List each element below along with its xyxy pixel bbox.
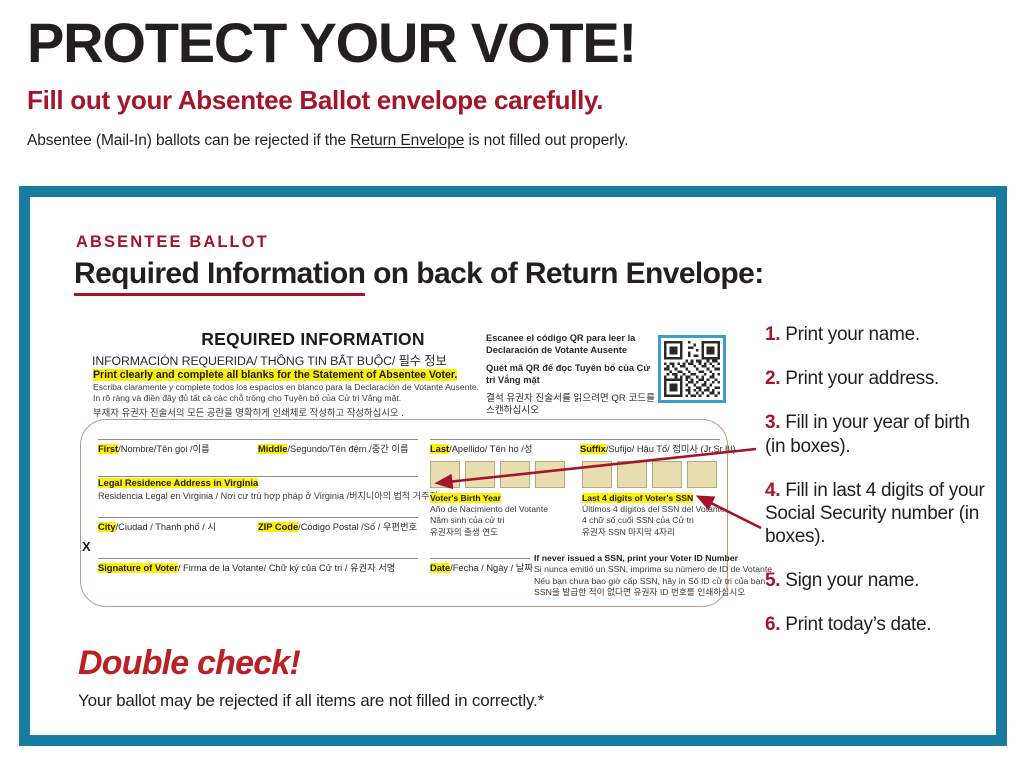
field-signature-label-multilang: / Firma de la Votante/ Chữ ký của Cử tri… <box>178 563 395 573</box>
return-envelope-link[interactable]: Return Envelope <box>350 132 464 149</box>
qr-code-icon <box>664 341 720 397</box>
step-number-1: 1. <box>765 324 780 345</box>
instruction-card: ABSENTEE BALLOT Required Information on … <box>30 197 996 735</box>
required-information-subtitle: INFORMACIÓN REQUERIDA/ THÔNG TIN BẮT BUỘ… <box>92 351 482 369</box>
birth-year-label-en: Voter's Birth Year <box>430 493 501 503</box>
ssn-note-ko: SSN을 발급한 적이 없다면 유권자 ID 번호를 인쇄하십시오 <box>534 587 745 597</box>
step-number-5: 5. <box>765 570 780 591</box>
field-middle-name-label-multilang: /Segundo/Tên đệm /중간 이름 <box>287 444 408 454</box>
ssn-boxes[interactable] <box>582 461 717 488</box>
step-text-5: Sign your name. <box>785 570 919 591</box>
step-item-2: 2. Print your address. <box>765 367 993 390</box>
field-first-name[interactable]: First/Nombre/Tên gọi /이름 <box>98 439 258 455</box>
birth-year-label-ko: 유권자의 출생 연도 <box>430 527 498 537</box>
field-suffix-label: Suffix/Sufijo/ Hậu Tố/ 접미사 (Jr,Sr,III) <box>580 440 720 455</box>
birth-year-caption: Voter's Birth Year Año de Nacimiento del… <box>430 493 548 538</box>
ssn-box[interactable] <box>687 461 717 488</box>
ssn-note-en: If never issued a SSN, print your Voter … <box>534 553 738 563</box>
poster-header: PROTECT YOUR VOTE! Fill out your Absente… <box>27 14 987 150</box>
field-last-name[interactable]: Last/Apellido/ Tên họ /성 <box>430 439 580 455</box>
double-check-note: Your ballot may be rejected if all items… <box>78 691 544 711</box>
qr-instruction-ko: 결석 유권자 진술서를 읽으려면 QR 코드를 스캔하십시오 <box>486 393 661 417</box>
field-last-name-label-en: Last <box>430 444 449 454</box>
instruction-vi: In rõ ràng và điền đầy đủ tất cả các chỗ… <box>93 393 401 403</box>
field-date[interactable]: Date/Fecha / Ngày / 날짜 <box>430 558 530 574</box>
instruction-en: Print clearly and complete all blanks fo… <box>93 369 457 381</box>
field-zip-code[interactable]: ZIP Code/Código Postal /Số / 우편번호 <box>258 517 418 533</box>
ssn-label-ko: 유권자 SSN 마지막 4자리 <box>582 527 675 537</box>
field-middle-name[interactable]: Middle/Segundo/Tên đệm /중간 이름 <box>258 439 418 455</box>
field-middle-name-label: Middle/Segundo/Tên đệm /중간 이름 <box>258 440 418 455</box>
step-text-2: Print your address. <box>785 368 939 389</box>
field-date-label: Date/Fecha / Ngày / 날짜 <box>430 559 530 574</box>
card-title: Required Information on back of Return E… <box>74 257 764 291</box>
field-last-name-label: Last/Apellido/ Tên họ /성 <box>430 440 580 455</box>
rejection-note: Absentee (Mail-In) ballots can be reject… <box>27 132 987 150</box>
ssn-box[interactable] <box>617 461 647 488</box>
step-number-2: 2. <box>765 368 780 389</box>
field-middle-name-label-en: Middle <box>258 444 287 454</box>
signature-x-mark: X <box>82 539 91 554</box>
envelope-scan: REQUIRED INFORMATION INFORMACIÓN REQUERI… <box>68 321 748 621</box>
field-suffix[interactable]: Suffix/Sufijo/ Hậu Tố/ 접미사 (Jr,Sr,III) <box>580 439 720 455</box>
field-city-label-en: City <box>98 522 116 532</box>
field-suffix-label-en: Suffix <box>580 444 606 454</box>
field-city-label: City/Ciudad / Thanh phố / 시 <box>98 518 258 533</box>
field-signature-label: Signature of Voter/ Firma de la Votante/… <box>98 559 418 574</box>
field-signature-label-en: Signature of Voter <box>98 563 178 573</box>
ssn-box[interactable] <box>582 461 612 488</box>
field-signature[interactable]: Signature of Voter/ Firma de la Votante/… <box>98 558 418 574</box>
field-legal-residence-address[interactable]: Legal Residence Address in Virginia Resi… <box>98 476 418 502</box>
required-information-title: REQUIRED INFORMATION <box>148 329 478 350</box>
poster-root: PROTECT YOUR VOTE! Fill out your Absente… <box>0 0 1024 773</box>
card-title-emphasis: Required Information <box>74 257 365 296</box>
birth-year-box[interactable] <box>430 461 460 488</box>
ssn-label-en: Last 4 digits of Voter's SSN <box>582 493 693 503</box>
ssn-caption: Last 4 digits of Voter's SSN Últimos 4 d… <box>582 493 725 538</box>
field-last-name-label-multilang: /Apellido/ Tên họ /성 <box>449 444 532 454</box>
ssn-label-es: Últimos 4 dígitos del SSN del Votante <box>582 504 725 514</box>
field-address-label-en: Legal Residence Address in Virginia <box>98 478 258 488</box>
field-city[interactable]: City/Ciudad / Thanh phố / 시 <box>98 517 258 533</box>
page-subtitle: Fill out your Absentee Ballot envelope c… <box>27 85 987 116</box>
double-check-heading: Double check! <box>78 644 300 683</box>
birth-year-box[interactable] <box>535 461 565 488</box>
instruction-es: Escriba claramente y complete todos los … <box>93 382 479 392</box>
steps-list: 1. Print your name. 2. Print your addres… <box>765 323 993 658</box>
qr-code[interactable] <box>658 335 726 403</box>
field-city-label-multilang: /Ciudad / Thanh phố / 시 <box>116 522 216 532</box>
field-address-label: Legal Residence Address in Virginia <box>98 477 418 488</box>
field-first-name-label-multilang: /Nombre/Tên gọi /이름 <box>118 444 210 454</box>
step-item-6: 6. Print today’s date. <box>765 613 993 636</box>
step-number-3: 3. <box>765 412 780 433</box>
birth-year-box[interactable] <box>465 461 495 488</box>
field-address-label-multilang: Residencia Legal en Virginia / Nơi cư tr… <box>98 488 418 502</box>
step-item-1: 1. Print your name. <box>765 323 993 346</box>
ssn-note-vi: Nếu bạn chưa bao giờ cấp SSN, hãy in Số … <box>534 576 765 586</box>
page-title: PROTECT YOUR VOTE! <box>27 14 987 71</box>
ssn-box[interactable] <box>652 461 682 488</box>
field-zip-label-en: ZIP Code <box>258 522 298 532</box>
instruction-ko: 부재자 유권자 진술서의 모든 공란을 명확하게 인쇄체로 작성하고 작성하십시… <box>93 405 404 419</box>
qr-instructions: Escanee el código QR para leer la Declar… <box>486 333 661 424</box>
birth-year-boxes[interactable] <box>430 461 565 488</box>
step-text-1: Print your name. <box>785 324 920 345</box>
instruction-card-frame: ABSENTEE BALLOT Required Information on … <box>19 186 1007 746</box>
field-suffix-label-multilang: /Sufijo/ Hậu Tố/ 접미사 (Jr,Sr,III) <box>606 444 736 454</box>
step-text-3: Fill in your year of birth (in boxes). <box>765 412 970 456</box>
step-text-6: Print today’s date. <box>785 614 931 635</box>
birth-year-label-es: Año de Nacimiento del Votante <box>430 504 548 514</box>
ssn-fallback-note: If never issued a SSN, print your Voter … <box>534 553 772 599</box>
step-item-3: 3. Fill in your year of birth (in boxes)… <box>765 411 993 457</box>
card-title-rest: on back of Return Envelope: <box>365 257 763 290</box>
field-date-label-multilang: /Fecha / Ngày / 날짜 <box>450 563 533 573</box>
step-text-4: Fill in last 4 digits of your Social Sec… <box>765 480 985 547</box>
step-item-4: 4. Fill in last 4 digits of your Social … <box>765 479 993 549</box>
rejection-note-after: is not filled out properly. <box>464 132 628 149</box>
qr-instruction-es: Escanee el código QR para leer la Declar… <box>486 333 661 356</box>
step-item-5: 5. Sign your name. <box>765 569 993 592</box>
step-number-6: 6. <box>765 614 780 635</box>
birth-year-label-vi: Năm sinh của cử tri <box>430 515 505 525</box>
field-zip-label: ZIP Code/Código Postal /Số / 우편번호 <box>258 518 418 533</box>
field-first-name-label: First/Nombre/Tên gọi /이름 <box>98 440 258 455</box>
rejection-note-before: Absentee (Mail-In) ballots can be reject… <box>27 132 350 149</box>
step-number-4: 4. <box>765 480 780 501</box>
qr-instruction-vi: Quét mã QR để đọc Tuyên bố của Cử tri Vắ… <box>486 363 661 386</box>
field-date-label-en: Date <box>430 563 450 573</box>
card-kicker: ABSENTEE BALLOT <box>76 233 269 252</box>
ssn-label-vi: 4 chữ số cuối SSN của Cử tri <box>582 515 694 525</box>
birth-year-box[interactable] <box>500 461 530 488</box>
ssn-note-es: Si nunca emitió un SSN, imprima su númer… <box>534 564 772 574</box>
field-first-name-label-en: First <box>98 444 118 454</box>
field-zip-label-multilang: /Código Postal /Số / 우편번호 <box>298 522 417 532</box>
